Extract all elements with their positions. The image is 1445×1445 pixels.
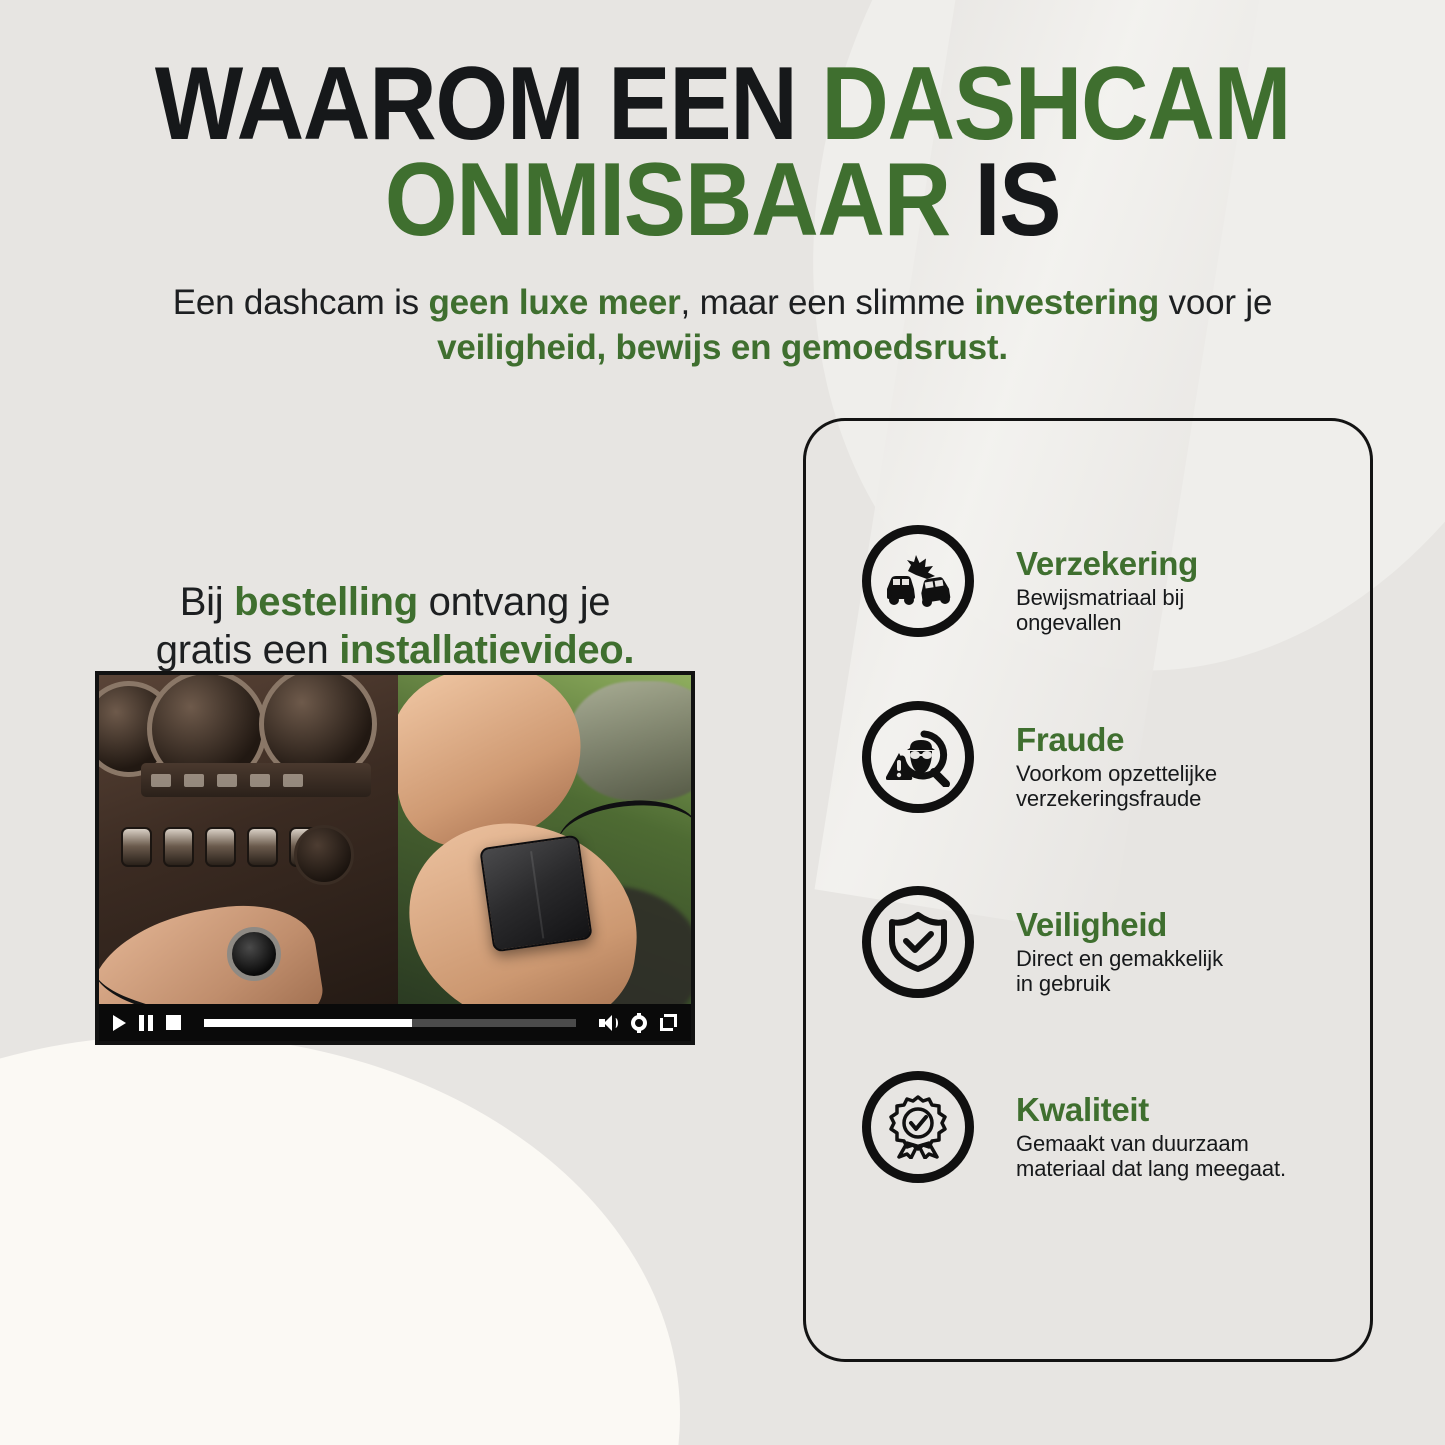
video-progress-fill [204, 1019, 412, 1027]
dashcam-device-graphic [479, 835, 593, 953]
dashboard-switch [163, 827, 194, 867]
feature-title: Fraude [1016, 721, 1217, 759]
page-title: WAAROM EEN DASHCAM ONMISBAAR IS [72, 56, 1373, 248]
car-crash-icon [862, 525, 974, 637]
feature-description: Voorkom opzettelijke verzekeringsfraude [1016, 761, 1217, 811]
power-socket-graphic [227, 927, 281, 981]
video-scene-dashboard [99, 675, 398, 1008]
installation-video-player[interactable] [95, 671, 695, 1045]
background-blur-shape [569, 681, 691, 801]
pause-icon[interactable] [139, 1015, 153, 1031]
feature-description: Direct en gemakkelijk in gebruik [1016, 946, 1223, 996]
feature-description: Gemaakt van duurzaam materiaal dat lang … [1016, 1131, 1286, 1181]
dashboard-switch [121, 827, 152, 867]
dashboard-button [151, 774, 171, 787]
feature-benefits-card: Verzekering Bewijsmatriaal bij ongevalle… [803, 418, 1373, 1362]
dashboard-button-row [141, 763, 371, 797]
award-ribbon-icon [862, 1071, 974, 1183]
page-subtitle: Een dashcam is geen luxe meer, maar een … [160, 280, 1285, 370]
dashboard-button [217, 774, 237, 787]
volume-icon[interactable] [599, 1015, 618, 1031]
feature-title: Verzekering [1016, 545, 1198, 583]
video-controls-bar[interactable] [99, 1004, 691, 1041]
headline-line-2: ONMISBAAR IS [385, 142, 1060, 258]
video-progress-bar[interactable] [204, 1019, 576, 1027]
stop-icon[interactable] [166, 1015, 181, 1030]
dashboard-switch-row [121, 827, 320, 867]
gear-icon[interactable] [631, 1015, 647, 1031]
dashboard-dial [294, 825, 354, 885]
feature-title: Kwaliteit [1016, 1091, 1286, 1129]
feature-text-block: Kwaliteit Gemaakt van duurzaam materiaal… [1016, 1071, 1286, 1181]
feature-item-kwaliteit: Kwaliteit Gemaakt van duurzaam materiaal… [862, 1071, 1286, 1183]
play-icon[interactable] [113, 1015, 126, 1031]
fraud-magnifier-icon [862, 701, 974, 813]
dashboard-button [184, 774, 204, 787]
feature-text-block: Verzekering Bewijsmatriaal bij ongevalle… [1016, 525, 1198, 635]
feature-description: Bewijsmatriaal bij ongevallen [1016, 585, 1198, 635]
dashboard-switch [205, 827, 236, 867]
video-promo-caption: Bij bestelling ontvang je gratis een ins… [95, 578, 695, 674]
feature-title: Veiligheid [1016, 906, 1223, 944]
feature-item-veiligheid: Veiligheid Direct en gemakkelijk in gebr… [862, 886, 1223, 998]
feature-text-block: Fraude Voorkom opzettelijke verzekerings… [1016, 701, 1217, 811]
feature-item-verzekering: Verzekering Bewijsmatriaal bij ongevalle… [862, 525, 1198, 637]
dashboard-button [283, 774, 303, 787]
shield-check-icon [862, 886, 974, 998]
dashboard-switch [247, 827, 278, 867]
video-thumbnail[interactable] [99, 675, 691, 1008]
feature-item-fraude: Fraude Voorkom opzettelijke verzekerings… [862, 701, 1217, 813]
video-scene-dashcam [398, 675, 691, 1008]
dashboard-button [250, 774, 270, 787]
feature-text-block: Veiligheid Direct en gemakkelijk in gebr… [1016, 886, 1223, 996]
fullscreen-icon[interactable] [660, 1014, 677, 1031]
